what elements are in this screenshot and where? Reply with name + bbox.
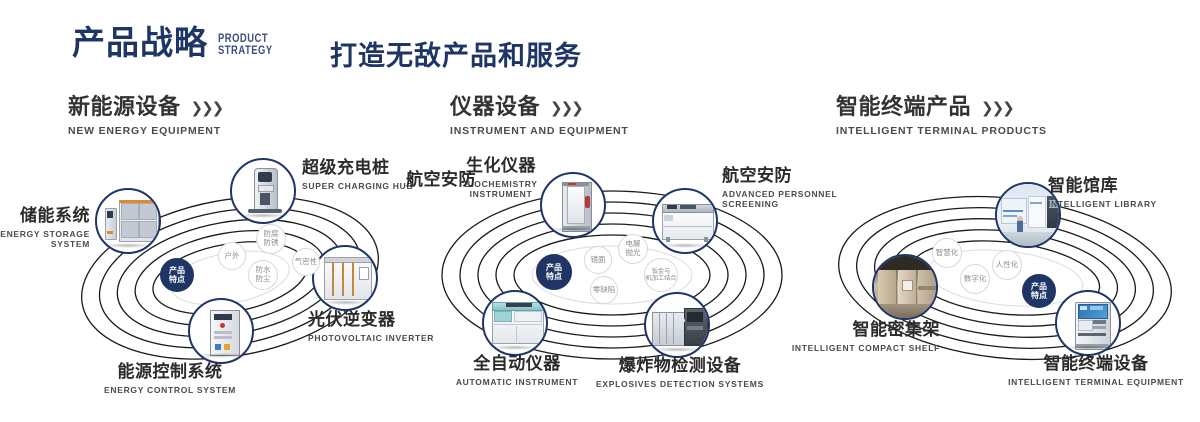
- node-energy-control-system[interactable]: [188, 298, 254, 364]
- chevron-right-icon: ❯❯❯: [981, 100, 1013, 117]
- label-cn: 储能系统: [0, 208, 90, 226]
- page-title-en-line2: STRATEGY: [218, 45, 273, 57]
- center-bubble-line1: 产品: [169, 266, 185, 275]
- section-title-text: 智能终端产品: [836, 96, 971, 120]
- center-bubble-line1: 产品: [546, 263, 562, 272]
- label-en: INTELLIGENT LIBRARY: [1048, 199, 1188, 210]
- feature-bubble-waterproof: 防水 防尘: [248, 260, 278, 290]
- feature-line2: 防尘: [256, 274, 271, 283]
- cluster-instrument: 生化仪器 BIOCHEMISTRY INSTRUMENT 航空安防 航空安防 A…: [412, 150, 812, 410]
- feature-bubble-sheetmetal-machining: 钣金与 机加工结合: [644, 258, 678, 292]
- node-super-charging-hub[interactable]: [230, 158, 296, 224]
- center-bubble-line2: 特点: [1031, 291, 1047, 300]
- label-aviation-security: 航空安防: [406, 172, 506, 190]
- label-en: INTELLIGENT COMPACT SHELF: [780, 343, 940, 354]
- label-en: ENERGY CONTROL SYSTEM: [70, 385, 270, 396]
- label-cn: 智能密集架: [780, 322, 940, 340]
- center-bubble-product-features: 产品 特点: [160, 258, 194, 292]
- node-advanced-screening[interactable]: [652, 188, 718, 254]
- feature-bubble-outdoor: 户外: [218, 242, 246, 270]
- feature-line1: 钣金与: [652, 268, 671, 275]
- feature-text: 数字化: [964, 275, 987, 284]
- label-cn: 爆炸物检测设备: [590, 358, 770, 376]
- detector-unit-icon: [646, 294, 708, 356]
- feature-text: 户外: [225, 252, 240, 261]
- node-intelligent-terminal[interactable]: [1055, 290, 1121, 356]
- feature-line2: 抛光: [626, 248, 641, 257]
- feature-text: 智慧化: [936, 249, 959, 258]
- charging-pile-icon: [232, 160, 294, 222]
- label-intelligent-compact-shelf: 智能密集架 INTELLIGENT COMPACT SHELF: [780, 322, 940, 353]
- cluster-intelligent: 智能馆库 INTELLIGENT LIBRARY 智能密集架 INTELLIGE…: [810, 150, 1200, 410]
- label-energy-control-system: 能源控制系统 ENERGY CONTROL SYSTEM: [70, 364, 270, 395]
- section-title-cn: 智能终端产品 ❯❯❯: [836, 96, 1047, 120]
- control-cabinet-icon: [190, 300, 252, 362]
- label-explosives-detection: 爆炸物检测设备 EXPLOSIVES DETECTION SYSTEMS: [590, 358, 770, 389]
- screening-machine-icon: [654, 190, 716, 252]
- section-title-cn: 仪器设备 ❯❯❯: [450, 96, 629, 120]
- label-en: EXPLOSIVES DETECTION SYSTEMS: [590, 379, 770, 390]
- section-heading-intelligent: 智能终端产品 ❯❯❯ INTELLIGENT TERMINAL PRODUCTS: [836, 96, 1047, 137]
- section-title-en: INTELLIGENT TERMINAL PRODUCTS: [836, 125, 1047, 137]
- node-intelligent-compact-shelf[interactable]: [872, 254, 938, 320]
- section-title-cn: 新能源设备 ❯❯❯: [68, 96, 222, 120]
- feature-bubble-airtightness: 气密性: [292, 248, 320, 276]
- inverter-cabinet-icon: [314, 247, 376, 309]
- center-bubble-line2: 特点: [169, 275, 185, 284]
- section-title-en: NEW ENERGY EQUIPMENT: [68, 125, 222, 137]
- node-automatic-instrument[interactable]: [482, 290, 548, 356]
- feature-bubble-smart: 智慧化: [932, 238, 962, 268]
- feature-bubble-digital: 数字化: [960, 264, 990, 294]
- auto-analyzer-icon: [484, 292, 546, 354]
- label-energy-storage-system: 储能系统 ENERGY STORAGE SYSTEM: [0, 208, 90, 250]
- chevron-right-icon: ❯❯❯: [191, 100, 223, 117]
- label-cn: 航空安防: [406, 172, 506, 190]
- cluster-new-energy: 储能系统 ENERGY STORAGE SYSTEM 超级充电桩 SUPER C…: [40, 150, 420, 410]
- label-intelligent-terminal: 智能终端设备 INTELLIGENT TERMINAL EQUIPMENT: [996, 356, 1196, 387]
- center-bubble-line2: 特点: [546, 272, 562, 281]
- label-en: ENERGY STORAGE SYSTEM: [0, 229, 90, 250]
- section-heading-new-energy: 新能源设备 ❯❯❯ NEW ENERGY EQUIPMENT: [68, 96, 222, 137]
- section-title-text: 仪器设备: [450, 96, 540, 120]
- center-bubble-product-features: 产品 特点: [536, 254, 572, 290]
- chevron-right-icon: ❯❯❯: [550, 100, 582, 117]
- page-title-cn: 产品战略: [72, 26, 208, 59]
- page-subtitle: 打造无敌产品和服务: [330, 34, 582, 73]
- center-bubble-product-features: 产品 特点: [1022, 274, 1056, 308]
- feature-bubble-mirror: 镜面: [584, 246, 612, 274]
- page-title-en: PRODUCT STRATEGY: [218, 33, 273, 57]
- kiosk-terminal-icon: [1057, 292, 1119, 354]
- node-explosives-detection[interactable]: [644, 292, 710, 358]
- label-automatic-instrument: 全自动仪器 AUTOMATIC INSTRUMENT: [422, 356, 612, 387]
- page-title-block: 产品战略 PRODUCT STRATEGY: [72, 26, 285, 59]
- label-en: AUTOMATIC INSTRUMENT: [422, 377, 612, 388]
- section-heading-instrument: 仪器设备 ❯❯❯ INSTRUMENT AND EQUIPMENT: [450, 96, 629, 137]
- feature-bubble-electrolytic-polishing: 电解 抛光: [618, 234, 648, 264]
- label-cn: 全自动仪器: [422, 356, 612, 374]
- feature-line2: 防锈: [264, 238, 279, 247]
- page-title-en-line1: PRODUCT: [218, 33, 273, 45]
- product-strategy-infographic: 产品战略 PRODUCT STRATEGY 打造无敌产品和服务 新能源设备 ❯❯…: [0, 0, 1200, 422]
- compact-shelf-icon: [874, 256, 936, 318]
- feature-text: 零缺陷: [593, 286, 616, 295]
- section-title-en: INSTRUMENT AND EQUIPMENT: [450, 125, 629, 137]
- node-energy-storage-system[interactable]: [95, 188, 161, 254]
- feature-bubble-humanized: 人性化: [992, 250, 1022, 280]
- node-photovoltaic-inverter[interactable]: [312, 245, 378, 311]
- label-cn: 智能馆库: [1048, 178, 1188, 196]
- feature-text: 镜面: [591, 256, 606, 265]
- label-cn: 能源控制系统: [70, 364, 270, 382]
- feature-text: 人性化: [996, 261, 1019, 270]
- center-bubble-line1: 产品: [1031, 282, 1047, 291]
- feature-bubble-zero-defect: 零缺陷: [590, 276, 618, 304]
- feature-bubble-anticorrosion: 防腐 防锈: [256, 224, 286, 254]
- feature-line2: 机加工结合: [646, 275, 677, 282]
- storage-cabinet-icon: [97, 190, 159, 252]
- label-en: INTELLIGENT TERMINAL EQUIPMENT: [996, 377, 1196, 388]
- section-title-text: 新能源设备: [68, 96, 181, 120]
- label-intelligent-library: 智能馆库 INTELLIGENT LIBRARY: [1048, 178, 1188, 209]
- label-cn: 智能终端设备: [996, 356, 1196, 374]
- feature-text: 气密性: [295, 258, 318, 267]
